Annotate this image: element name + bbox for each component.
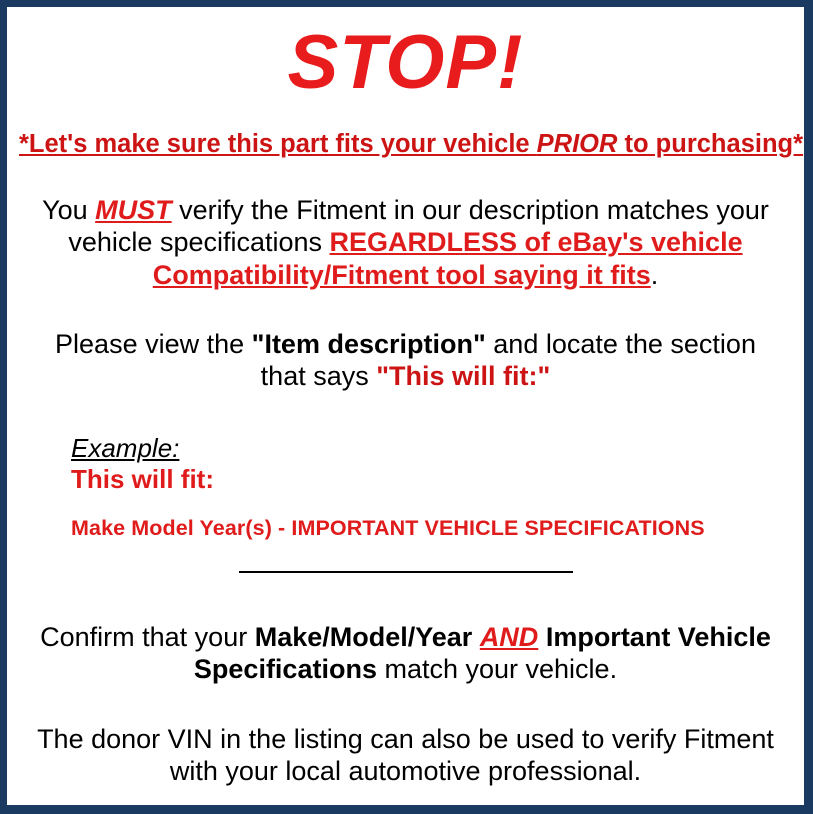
paragraph-must-verify: You MUST verify the Fitment in our descr… xyxy=(19,194,792,290)
paragraph-confirm: Confirm that your Make/Model/Year AND Im… xyxy=(19,621,792,685)
section-divider xyxy=(239,571,573,573)
this-will-fit-quote: "This will fit:" xyxy=(376,361,550,391)
fitment-notice-frame: STOP! *Let's make sure this part fits yo… xyxy=(0,0,813,814)
verify-banner-tail: to purchasing* xyxy=(617,130,803,158)
example-fit-header: This will fit: xyxy=(71,464,792,494)
paragraph-donor-vin: The donor VIN in the listing can also be… xyxy=(19,723,792,787)
view-part1: Please view the xyxy=(55,329,252,359)
must-part3: . xyxy=(651,260,659,290)
paragraph-item-description: Please view the "Item description" and l… xyxy=(19,328,792,392)
item-description-label: "Item description" xyxy=(252,329,486,359)
divider-wrap xyxy=(19,563,792,581)
must-emphasis: MUST xyxy=(95,195,172,225)
and-emphasis: AND xyxy=(480,622,539,652)
confirm-part2: match your vehicle. xyxy=(377,654,617,684)
must-part1: You xyxy=(42,195,95,225)
confirm-part1: Confirm that your xyxy=(40,622,255,652)
example-block: Example: This will fit: Make Model Year(… xyxy=(19,434,792,541)
verify-banner-emphasis: PRIOR xyxy=(537,130,618,158)
example-spec-line: Make Model Year(s) - IMPORTANT VEHICLE S… xyxy=(71,516,792,541)
stop-headline: STOP! xyxy=(19,25,792,101)
notice-content: STOP! *Let's make sure this part fits yo… xyxy=(7,25,804,814)
example-label: Example: xyxy=(71,434,792,463)
make-model-year-label: Make/Model/Year xyxy=(255,622,480,652)
verify-banner-lead: *Let's make sure this part fits your veh… xyxy=(19,130,537,158)
verify-banner: *Let's make sure this part fits your veh… xyxy=(19,130,792,159)
